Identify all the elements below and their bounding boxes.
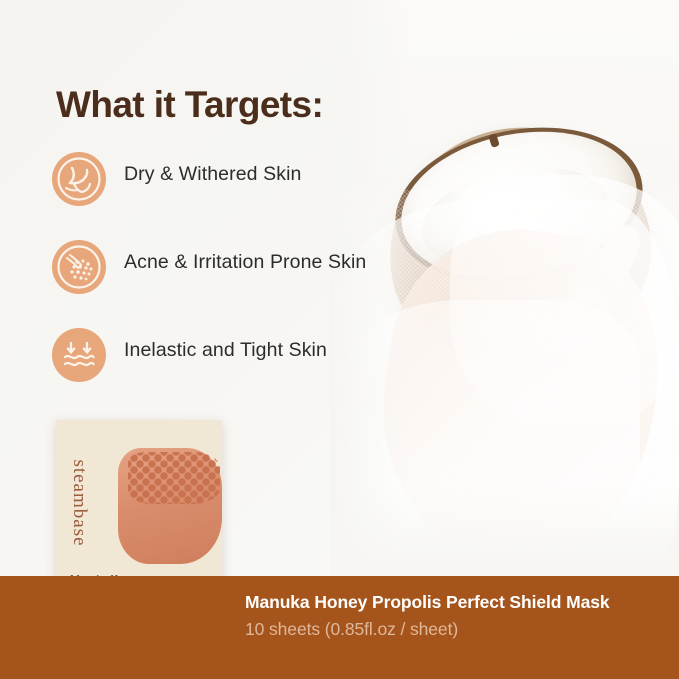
acne-pores-icon (50, 238, 108, 296)
targets-list: Dry & Withered Skin (50, 150, 450, 414)
sagging-skin-icon (50, 326, 108, 384)
brand-logo: steambase (68, 448, 90, 558)
list-item-label: Acne & Irritation Prone Skin (124, 251, 366, 274)
list-item-label: Inelastic and Tight Skin (124, 339, 327, 362)
photo-bottom-fade (330, 486, 679, 576)
list-item-label: Dry & Withered Skin (124, 163, 301, 186)
honeycomb-cells (128, 452, 220, 504)
list-item: Dry & Withered Skin (50, 150, 450, 238)
product-quantity: 10 sheets (0.85fl.oz / sheet) (245, 619, 458, 640)
brand-logo-text: steambase (69, 459, 90, 546)
dry-cracked-skin-icon (50, 150, 108, 208)
list-item: Inelastic and Tight Skin (50, 326, 450, 414)
page-title: What it Targets: (56, 84, 323, 126)
product-name: Manuka Honey Propolis Perfect Shield Mas… (245, 592, 609, 613)
product-infographic: What it Targets: Dry & Withered Skin (0, 0, 679, 679)
list-item: Acne & Irritation Prone Skin (50, 238, 450, 326)
